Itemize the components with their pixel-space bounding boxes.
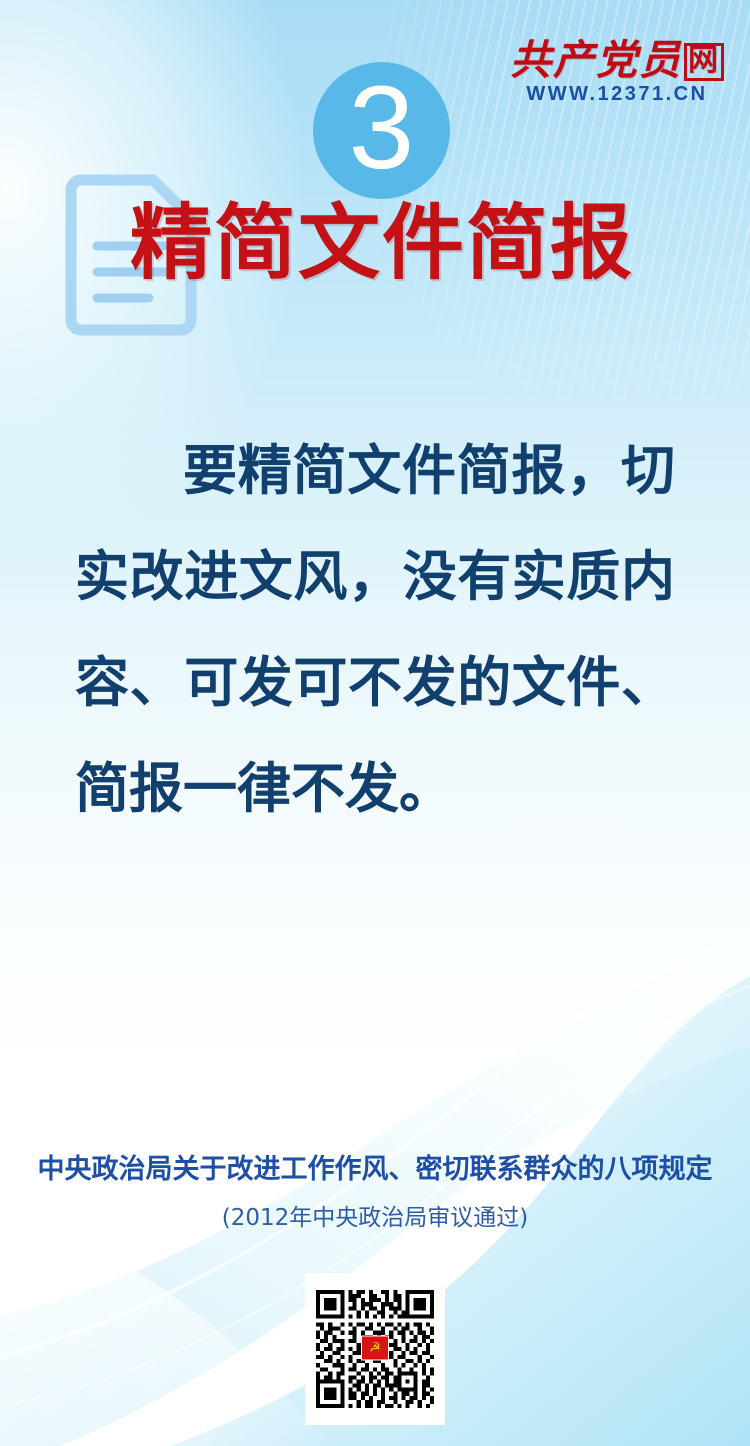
body-paragraph: 要精简文件简报，切实改进文风，没有实质内容、可发可不发的文件、简报一律不发。 (75, 418, 675, 842)
party-emblem-icon: ☭ (361, 1336, 389, 1361)
site-logo-chinese-name: 共产党员网 (502, 38, 732, 82)
footer-regulation-subtitle: (2012年中央政治局审议通过) (0, 1203, 750, 1233)
party-emblem-glyph: ☭ (369, 1342, 381, 1355)
site-logo-url: WWW.12371.CN (502, 83, 732, 106)
section-number-badge: 3 (313, 62, 450, 199)
page-title: 精简文件简报 (0, 198, 750, 290)
site-logo-name-boxed: 网 (684, 43, 724, 81)
footer-regulation-title: 中央政治局关于改进工作作风、密切联系群众的八项规定 (0, 1153, 750, 1187)
poster-canvas: 共产党员网 WWW.12371.CN 3 精简文件简报 要精简文件简报，切实改进… (0, 0, 750, 1446)
site-logo-name-main: 共产党员 (510, 37, 682, 83)
site-logo: 共产党员网 WWW.12371.CN (502, 38, 732, 106)
qr-code[interactable]: ☭ (305, 1273, 445, 1425)
section-number: 3 (349, 69, 415, 187)
